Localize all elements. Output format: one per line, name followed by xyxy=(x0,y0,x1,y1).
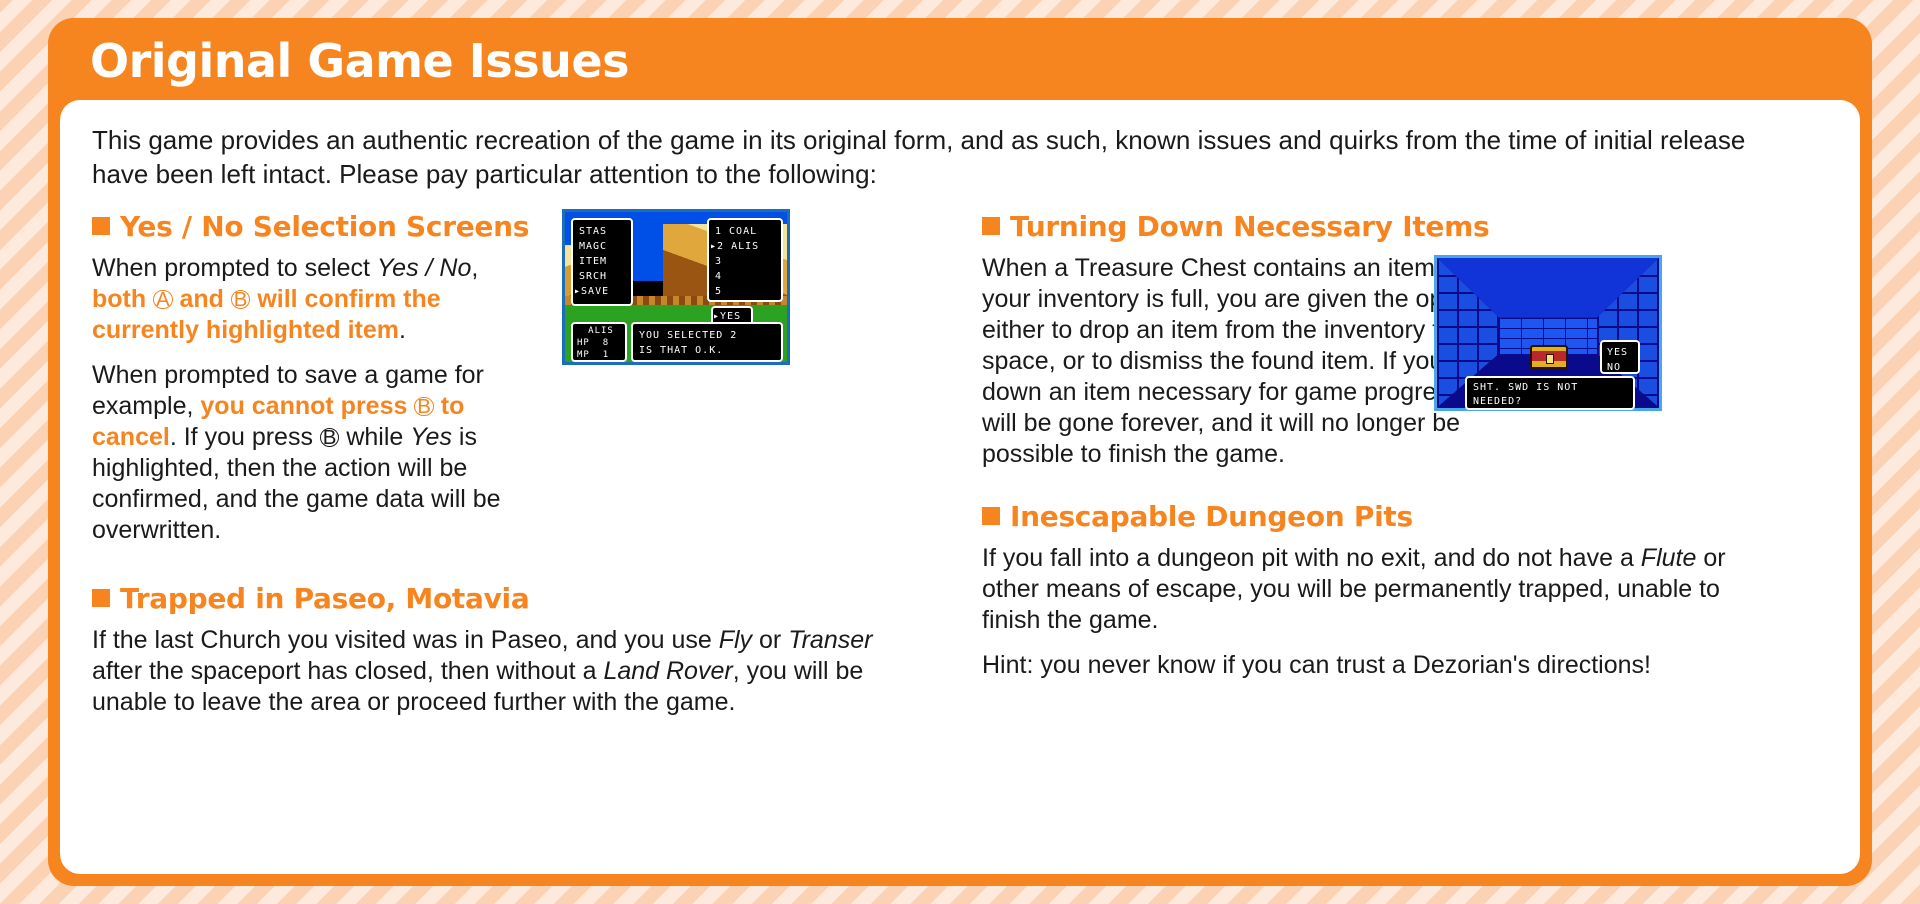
button-b-icon: B xyxy=(320,428,339,447)
italic-fly: Fly xyxy=(719,626,752,654)
menu-item-srch: SRCH xyxy=(579,269,631,284)
text-fragment: . If you press xyxy=(170,423,320,451)
text-fragment: If the last Church you visited was in Pa… xyxy=(92,626,719,654)
italic-land-rover: Land Rover xyxy=(603,657,732,685)
text-fragment: while xyxy=(339,423,410,451)
left-column: Yes / No Selection Screens When prompted… xyxy=(92,204,952,732)
square-bullet-icon xyxy=(92,589,110,607)
section-heading-dungeon-pits-label: Inescapable Dungeon Pits xyxy=(1010,500,1413,533)
right-column: Turning Down Necessary Items xyxy=(982,204,1832,695)
text-fragment: , xyxy=(471,254,478,282)
highlight-fragment: both xyxy=(92,285,153,313)
overworld-inventory-list: 1 COAL ▸2 ALIS 3 4 5 xyxy=(707,218,783,302)
status-hp-value: 8 xyxy=(603,338,609,348)
dungeon-yes-no-box: YES NO xyxy=(1600,340,1640,374)
yes-no-paragraph-2-top: When prompted to save a game for example… xyxy=(92,360,522,546)
dungeon-pits-paragraph: If you fall into a dungeon pit with no e… xyxy=(982,543,1772,636)
no-option: NO xyxy=(1607,360,1638,375)
inventory-row-2-label: 2 ALIS xyxy=(717,241,759,252)
section-heading-dungeon-pits: Inescapable Dungeon Pits xyxy=(982,500,1832,533)
status-mp-row: MP 1 xyxy=(577,349,625,361)
square-bullet-icon xyxy=(92,217,110,235)
card-white-panel: This game provides an authentic recreati… xyxy=(60,100,1860,874)
text-fragment: or xyxy=(752,626,788,654)
button-b-icon: B xyxy=(414,397,433,416)
intro-paragraph: This game provides an authentic recreati… xyxy=(92,124,1792,192)
section-heading-paseo-label: Trapped in Paseo, Motavia xyxy=(120,582,529,615)
section-heading-turning-down: Turning Down Necessary Items xyxy=(982,210,1832,243)
section-heading-paseo: Trapped in Paseo, Motavia xyxy=(92,582,952,615)
button-a-icon: A xyxy=(153,290,172,309)
inventory-row-4: 4 xyxy=(715,269,781,284)
italic-transer: Transer xyxy=(788,626,872,654)
overworld-command-menu: STAS MAGC ITEM SRCH ▸SAVE xyxy=(571,218,633,306)
overworld-status-box: ALIS HP 8 MP 1 xyxy=(571,322,627,362)
highlight-fragment: you cannot press xyxy=(200,392,414,420)
italic-flute: Flute xyxy=(1641,544,1697,572)
text-fragment: . xyxy=(399,316,406,344)
square-bullet-icon xyxy=(982,507,1000,525)
highlight-fragment: and xyxy=(173,285,231,313)
card-title-tab: Original Game Issues xyxy=(48,18,898,110)
overworld-message-box: YOU SELECTED 2 IS THAT O.K. xyxy=(631,322,783,362)
section-heading-turning-down-label: Turning Down Necessary Items xyxy=(1010,210,1489,243)
text-fragment: after the spaceport has closed, then wit… xyxy=(92,657,603,685)
text-fragment: When prompted to select xyxy=(92,254,377,282)
paseo-paragraph: If the last Church you visited was in Pa… xyxy=(92,625,882,718)
status-mp-value: 1 xyxy=(603,350,609,360)
page-title: Original Game Issues xyxy=(90,34,629,88)
status-hp-row: HP 8 xyxy=(577,337,625,349)
menu-item-stas: STAS xyxy=(579,224,631,239)
menu-item-magc: MAGC xyxy=(579,239,631,254)
status-character-name: ALIS xyxy=(577,325,625,337)
game-screenshot-dungeon: YES NO SHT. SWD IS NOT NEEDED? xyxy=(1434,255,1662,411)
square-bullet-icon xyxy=(982,217,1000,235)
message-line-2: NEEDED? xyxy=(1473,395,1633,409)
card-content: This game provides an authentic recreati… xyxy=(92,124,1828,854)
status-mp-label: MP xyxy=(577,350,590,360)
inventory-row-3: 3 xyxy=(715,254,781,269)
menu-item-item: ITEM xyxy=(579,254,631,269)
menu-item-save-label: SAVE xyxy=(581,286,609,297)
dungeon-message-box: SHT. SWD IS NOT NEEDED? xyxy=(1465,376,1635,410)
button-b-icon: B xyxy=(231,290,250,309)
status-hp-label: HP xyxy=(577,338,590,348)
inventory-row-5: 5 xyxy=(715,284,781,299)
dungeon-pits-hint: Hint: you never know if you can trust a … xyxy=(982,650,1772,681)
message-line-1: YOU SELECTED 2 xyxy=(639,328,781,343)
inventory-row-1: 1 COAL xyxy=(715,224,781,239)
inventory-row-2-selected: ▸2 ALIS xyxy=(710,239,776,254)
yes-no-paragraph-1: When prompted to select Yes / No, both A… xyxy=(92,253,522,346)
menu-item-save-selected: ▸SAVE xyxy=(574,284,626,299)
yes-option: YES xyxy=(1607,345,1638,360)
game-screenshot-overworld: STAS MAGC ITEM SRCH ▸SAVE 1 COAL ▸2 ALIS… xyxy=(562,209,790,365)
yes-label: YES xyxy=(720,311,741,322)
section-heading-yes-no-label: Yes / No Selection Screens xyxy=(120,210,529,243)
message-line-1: SHT. SWD IS NOT xyxy=(1473,381,1633,395)
message-line-2: IS THAT O.K. xyxy=(639,343,781,358)
section-heading-yes-no: Yes / No Selection Screens xyxy=(92,210,952,243)
italic-yes: Yes xyxy=(410,423,452,451)
text-fragment: If you fall into a dungeon pit with no e… xyxy=(982,544,1641,572)
treasure-chest-icon xyxy=(1530,345,1568,369)
issues-card: Original Game Issues This game provides … xyxy=(48,18,1872,886)
italic-yes-no: Yes / No xyxy=(377,254,472,282)
